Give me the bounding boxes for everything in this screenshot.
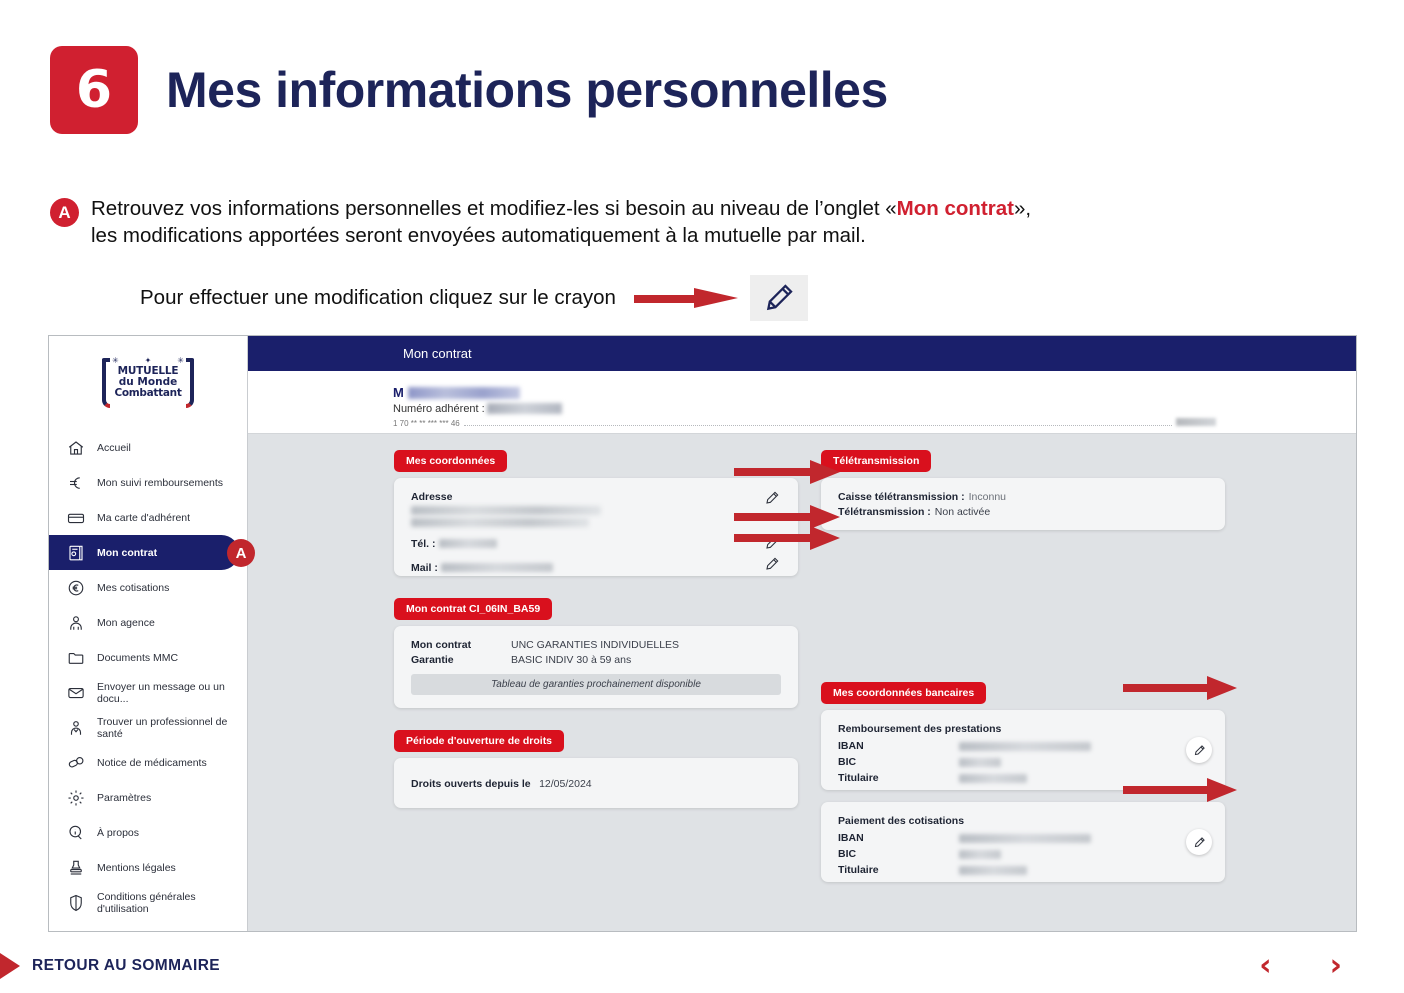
home-icon [66,438,85,457]
pencil-icon [762,281,796,315]
euro-icon [66,473,85,492]
pencil-icon [1193,836,1206,849]
phone-label: Tél. : [411,538,436,550]
teletransmission-row: Caisse télétransmission : Inconnu [838,491,1208,503]
mail-label: Mail : [411,562,438,574]
card-coordonnees-bancaires: Mes coordonnées bancaires Remboursement … [821,682,1225,882]
sidebar-item-label: À propos [97,827,139,839]
intro-line1-after: », [1014,197,1031,220]
envelope-icon [66,683,85,702]
app-main: Mon contrat M Numéro adhérent : 1 70 ** … [248,336,1356,931]
chevron-left-icon[interactable]: ‹ [1259,951,1271,981]
member-name-redacted [408,387,520,399]
bank-row: Titulaire [838,772,1208,784]
sidebar-item-label: Mon suivi remboursements [97,477,223,489]
cards-region: Mes coordonnées Adresse Tél. : Mail : [248,434,1356,931]
member-name: M [393,385,1356,400]
app-topbar-title: Mon contrat [403,346,472,361]
bank-row: IBAN [838,740,1208,752]
member-number-row: Numéro adhérent : [393,403,1356,415]
sidebar-item-mes-cotisations[interactable]: Mes cotisations [49,570,247,605]
app-topbar: Mon contrat [248,336,1356,371]
red-arrow-icon [634,291,738,305]
contract-key: Mon contrat [411,639,511,651]
pills-icon [66,753,85,772]
back-to-summary-link[interactable]: RETOUR AU SOMMAIRE [32,957,220,975]
bank-row: Titulaire [838,864,1208,876]
member-identity-block: M Numéro adhérent : 1 70 ** ** *** *** 4… [248,371,1356,434]
bank-row: IBAN [838,832,1208,844]
sidebar-item-label: Documents MMC [97,652,178,664]
member-civility: M [393,385,404,400]
teletransmission-key: Télétransmission : [838,506,931,518]
sidebar-item-notice-medicaments[interactable]: Notice de médicaments [49,745,247,780]
sidebar-item-label: Paramètres [97,792,151,804]
sidebar-item-suivi-remboursements[interactable]: Mon suivi remboursements [49,465,247,500]
callout-arrow-bank-remboursement [1123,684,1207,692]
stamp-icon [66,858,85,877]
footer-triangle-icon [0,953,20,979]
card-icon [66,508,85,527]
edit-remboursement-bank-button[interactable] [1186,737,1212,763]
mail-redacted [441,563,553,572]
footer-nav: ‹ › [1259,951,1342,981]
card-tag: Mes coordonnées [394,450,507,472]
chevron-right-icon[interactable]: › [1330,951,1342,981]
sidebar-item-mon-agence[interactable]: Mon agence [49,605,247,640]
card-body: Adresse Tél. : Mail : [394,478,798,576]
card-periode-droits: Période d'ouverture de droits Droits ouv… [394,730,798,808]
card-tag: Mon contrat CI_06IN_BA59 [394,598,552,620]
letter-badge-a: A [50,198,79,227]
sidebar-item-documents-mmc[interactable]: Documents MMC [49,640,247,675]
bank-key: Titulaire [838,864,956,876]
bank-key: IBAN [838,740,956,752]
divider-dots [464,425,1172,426]
intro-line2: les modifications apportées seront envoy… [91,224,866,247]
card-body: Mon contrat UNC GARANTIES INDIVIDUELLES … [394,626,798,708]
pencil-icon [764,556,780,572]
droits-label: Droits ouverts depuis le [411,778,531,790]
teletransmission-key: Caisse télétransmission : [838,491,965,503]
iban-redacted [959,742,1091,751]
sidebar-item-accueil[interactable]: Accueil [49,430,247,465]
sidebar-item-label: Trouver un professionnel de santé [97,716,247,740]
member-ssn-row: 1 70 ** ** *** *** 46 [393,418,1356,428]
doctor-icon [66,718,85,737]
sidebar-item-carte-adherent[interactable]: Ma carte d'adhérent [49,500,247,535]
right-column: Télétransmission Caisse télétransmission… [821,450,1225,900]
page-footer: RETOUR AU SOMMAIRE ‹ › [0,938,1404,993]
card-body-cotisations: Paiement des cotisations IBAN BIC Titula… [821,802,1225,882]
sidebar-item-mon-contrat[interactable]: Mon contrat A [49,535,239,570]
bic-redacted [959,850,1001,859]
sidebar-item-label: Mon agence [97,617,155,629]
callout-badge-a: A [227,539,255,567]
phone-redacted [439,539,497,548]
address-label: Adresse [411,491,781,503]
shield-icon [66,893,85,912]
folder-icon [66,648,85,667]
bank-row: BIC [838,848,1208,860]
teletransmission-value: Inconnu [969,491,1006,503]
droits-date: 12/05/2024 [539,778,592,790]
sidebar-item-professionnel-sante[interactable]: Trouver un professionnel de santé [49,710,247,745]
logo-line-3: Combattant [111,388,185,399]
intro-line1-emphasis: Mon contrat [897,197,1014,220]
garantie-note: Tableau de garanties prochainement dispo… [411,674,781,695]
sidebar-item-envoyer-message[interactable]: Envoyer un message ou un docu... [49,675,247,710]
sidebar-item-mentions-legales[interactable]: Mentions légales [49,850,247,885]
callout-arrow-mail [734,534,810,542]
member-number-label: Numéro adhérent : [393,403,485,415]
logo-decorations: ✳✦✳ [112,356,184,365]
sidebar-item-label: Mentions légales [97,862,176,874]
intro-section: A Retrouvez vos informations personnelle… [50,195,1031,249]
edit-mail-button[interactable] [764,556,780,577]
euro-circle-icon [66,578,85,597]
bank-row: BIC [838,756,1208,768]
edit-cotisations-bank-button[interactable] [1186,829,1212,855]
edit-address-button[interactable] [764,490,780,511]
contract-icon [66,543,85,562]
sidebar-item-label: Ma carte d'adhérent [97,512,190,524]
app-sidebar: ✳✦✳ MUTUELLE du Monde Combattant Accueil… [49,336,248,931]
sidebar-item-a-propos[interactable]: À propos [49,815,247,850]
card-tag: Période d'ouverture de droits [394,730,564,752]
bank-key: BIC [838,848,956,860]
teletransmission-row: Télétransmission : Non activée [838,506,1208,518]
crayon-label: Pour effectuer une modification cliquez … [140,286,616,310]
page-title: Mes informations personnelles [166,61,888,119]
mail-row: Mail : [411,558,781,576]
mmc-logo: ✳✦✳ MUTUELLE du Monde Combattant [100,354,196,412]
pencil-icon-box [750,275,808,321]
bic-redacted [959,758,1001,767]
page-header: 6 Mes informations personnelles [50,46,888,134]
titulaire-redacted [959,774,1027,783]
sidebar-nav: Accueil Mon suivi remboursements Ma cart… [49,430,247,920]
bank-block-title: Paiement des cotisations [838,815,1208,827]
member-number-redacted [487,403,562,414]
intro-paragraph: Retrouvez vos informations personnelles … [91,195,1031,249]
sidebar-item-label: Accueil [97,442,131,454]
card-teletransmission: Télétransmission Caisse télétransmission… [821,450,1225,530]
pencil-icon [764,490,780,506]
intro-row: A Retrouvez vos informations personnelle… [50,195,1031,249]
sidebar-item-parametres[interactable]: Paramètres [49,780,247,815]
bank-key: BIC [838,756,956,768]
info-icon [66,823,85,842]
sidebar-item-label: Mes cotisations [97,582,169,594]
titulaire-redacted [959,866,1027,875]
card-tag: Mes coordonnées bancaires [821,682,986,704]
pencil-icon [1193,744,1206,757]
sidebar-item-label: Mon contrat [97,547,157,559]
agent-icon [66,613,85,632]
step-number-badge: 6 [50,46,138,134]
sidebar-item-label: Envoyer un message ou un docu... [97,681,247,705]
sidebar-item-cgu[interactable]: Conditions générales d'utilisation [49,885,247,920]
address-line1-redacted [411,506,601,515]
bank-key: IBAN [838,832,956,844]
left-column: Mes coordonnées Adresse Tél. : Mail : [394,450,798,826]
teletransmission-value: Non activée [935,506,990,518]
crayon-instruction-row: Pour effectuer une modification cliquez … [140,275,808,321]
app-screenshot: ✳✦✳ MUTUELLE du Monde Combattant Accueil… [48,335,1357,932]
iban-redacted [959,834,1091,843]
phone-row: Tél. : [411,534,781,552]
card-mon-contrat: Mon contrat CI_06IN_BA59 Mon contrat UNC… [394,598,798,708]
contract-key: Garantie [411,654,511,666]
intro-line1-before: Retrouvez vos informations personnelles … [91,197,897,220]
card-body: Droits ouverts depuis le 12/05/2024 [394,758,798,808]
sidebar-item-label: Notice de médicaments [97,757,207,769]
sidebar-item-label: Conditions générales d'utilisation [97,891,247,915]
card-body-remboursement: Remboursement des prestations IBAN BIC T… [821,710,1225,790]
member-ssn-masked: 1 70 ** ** *** *** 46 [393,419,460,428]
gear-icon [66,788,85,807]
callout-arrow-bank-cotisations [1123,786,1207,794]
bank-block-title: Remboursement des prestations [838,723,1208,735]
contract-row: Mon contrat UNC GARANTIES INDIVIDUELLES [411,639,781,651]
callout-arrow-address [734,468,810,476]
contract-row: Garantie BASIC INDIV 30 à 59 ans [411,654,781,666]
contract-value: BASIC INDIV 30 à 59 ans [511,654,631,666]
contract-value: UNC GARANTIES INDIVIDUELLES [511,639,679,651]
bank-key: Titulaire [838,772,956,784]
card-body: Caisse télétransmission : Inconnu Télétr… [821,478,1225,530]
address-line2-redacted [411,518,589,527]
member-ssn-end-redacted [1176,418,1216,426]
callout-arrow-phone [734,513,810,521]
